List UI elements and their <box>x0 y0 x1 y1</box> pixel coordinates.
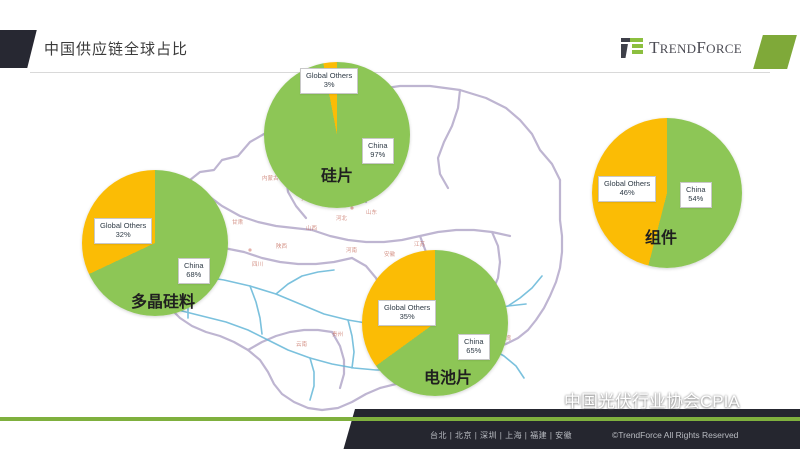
pie-slice-label-others: Global Others 35% <box>378 300 436 326</box>
pie-title: 组件 <box>616 224 706 248</box>
wechat-watermark: 中国光伏行业协会CPIA <box>536 387 740 412</box>
pie-slice-label-others: Global Others 3% <box>300 68 358 94</box>
svg-text:四川: 四川 <box>252 261 263 268</box>
label-name: Global Others <box>306 71 352 80</box>
trendforce-logo: TRENDFORCE <box>621 38 742 58</box>
pie-chart-cell: China 65% Global Others 35% 电池片 <box>362 250 508 396</box>
label-name: China <box>184 261 204 270</box>
label-value: 54% <box>686 194 706 203</box>
brand-f: F <box>696 38 706 57</box>
label-value: 68% <box>184 270 204 279</box>
svg-text:山西: 山西 <box>306 224 318 232</box>
pie-slice-label-china: China 97% <box>362 138 394 164</box>
pie-slice-label-china: China 65% <box>458 334 490 360</box>
pie-slice-label-china: China 54% <box>680 182 712 208</box>
pie-chart-polysilicon: China 68% Global Others 32% 多晶硅料 <box>82 170 228 316</box>
label-value: 32% <box>100 230 146 239</box>
svg-text:河南: 河南 <box>346 246 358 254</box>
label-name: Global Others <box>604 179 650 188</box>
footer-band <box>344 409 800 449</box>
wechat-icon <box>536 391 558 409</box>
page-title: 中国供应链全球占比 <box>44 38 188 59</box>
slide-canvas: 黑龙江 吉林 辽宁 内蒙古 甘肃 青海 西藏 陕西 四川 山西 河北 山东 河南… <box>0 0 800 449</box>
brand-t: T <box>649 38 660 57</box>
label-name: China <box>686 185 706 194</box>
label-name: China <box>368 141 388 150</box>
label-value: 35% <box>384 312 430 321</box>
pie-chart-module: China 54% Global Others 46% 组件 <box>592 118 742 268</box>
label-value: 46% <box>604 188 650 197</box>
pie-chart-wafer: China 97% Global Others 3% 硅片 <box>264 62 410 208</box>
label-name: Global Others <box>384 303 430 312</box>
pie-title: 多晶硅料 <box>108 288 218 312</box>
pie-title: 硅片 <box>292 162 382 186</box>
svg-text:陕西: 陕西 <box>276 242 288 250</box>
svg-text:山东: 山东 <box>366 208 378 216</box>
label-name: China <box>464 337 484 346</box>
watermark-text: 中国光伏行业协会CPIA <box>564 387 740 412</box>
brand-rend: REND <box>660 41 697 56</box>
svg-text:贵州: 贵州 <box>332 330 343 338</box>
svg-text:云南: 云南 <box>296 340 308 348</box>
label-value: 3% <box>306 80 352 89</box>
label-value: 65% <box>464 346 484 355</box>
pie-title: 电池片 <box>398 364 498 388</box>
label-value: 97% <box>368 150 388 159</box>
trendforce-logo-icon <box>621 38 643 58</box>
pie-slice-label-china: China 68% <box>178 258 210 284</box>
footer-office-cities: 台北 | 北京 | 深圳 | 上海 | 福建 | 安徽 <box>430 430 572 441</box>
pie-slice-label-others: Global Others 46% <box>598 176 656 202</box>
trendforce-logo-text: TRENDFORCE <box>649 38 742 58</box>
footer-green-rule <box>0 417 800 421</box>
svg-text:河北: 河北 <box>336 214 348 222</box>
footer-copyright: ©TrendForce All Rights Reserved <box>612 430 738 440</box>
brand-orce: ORCE <box>706 41 742 56</box>
svg-text:江苏: 江苏 <box>414 240 426 248</box>
svg-text:甘肃: 甘肃 <box>232 218 244 226</box>
pie-slice-label-others: Global Others 32% <box>94 218 152 244</box>
label-name: Global Others <box>100 221 146 230</box>
